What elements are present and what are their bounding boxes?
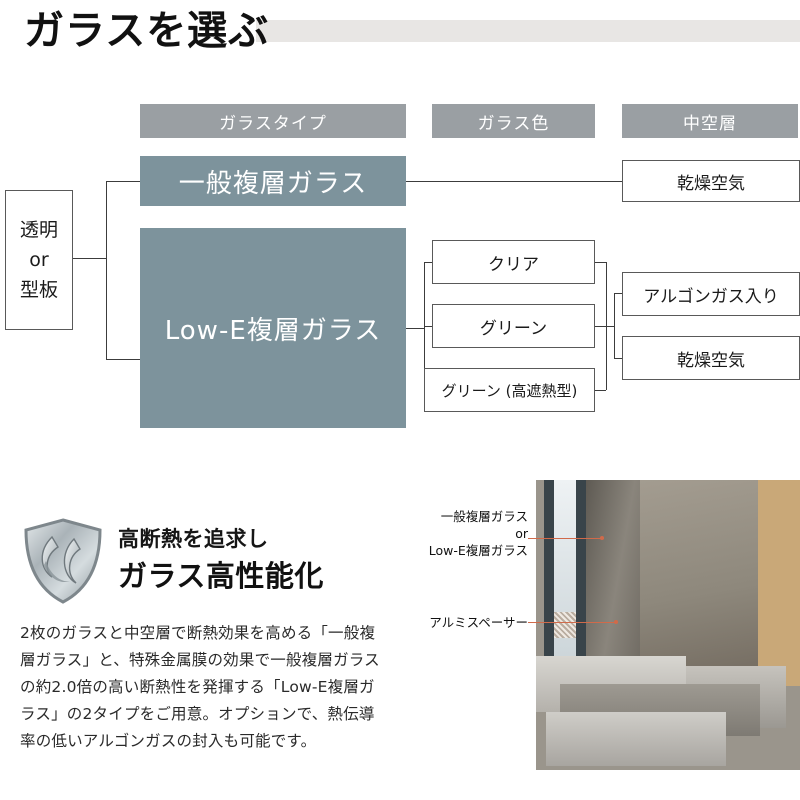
feature-body-text: 2枚のガラスと中空層で断熱効果を高める「一般複層ガラス」と、特殊金属膜の効果で一… [20, 620, 390, 755]
node-color-clear-label: クリア [488, 250, 539, 275]
callout-spacer-leader-line [528, 622, 618, 623]
connector-source-bracket [106, 181, 107, 359]
connector-lowe-stem [406, 328, 424, 329]
callout-spacer-leader-dot [614, 620, 618, 624]
connector-source-stem [73, 258, 106, 259]
connector-to-clear [424, 262, 432, 263]
feature-headline: ガラス高性能化 [118, 556, 398, 596]
photo-frame-top [640, 480, 758, 666]
page-header: ガラスを選ぶ [0, 0, 800, 72]
photo-aluminium-spacer [554, 612, 576, 638]
node-source-line1: 透明 [20, 215, 58, 245]
connector-to-lowe [106, 359, 140, 360]
connector-green-out [595, 326, 606, 327]
node-standard-glass-label: 一般複層ガラス [179, 163, 367, 200]
connector-standard-to-dryair [406, 181, 622, 182]
node-airlayer-dry-air-standard[interactable]: 乾燥空気 [622, 160, 800, 202]
node-color-green-shade[interactable]: グリーン (高遮熱型) [424, 368, 595, 412]
node-source-line3: 型板 [20, 275, 58, 305]
callout-spacer-label: アルミスペーサー [400, 614, 528, 631]
node-airlayer-argon[interactable]: アルゴンガス入り [622, 272, 800, 316]
photo-wood-trim [758, 480, 800, 686]
node-source-line2: or [29, 245, 48, 275]
node-color-green[interactable]: グリーン [432, 304, 595, 348]
node-lowe-glass-label: Low-E複層ガラス [165, 310, 382, 347]
connector-to-argon [614, 293, 622, 294]
glass-selection-diagram: ガラスタイプ ガラス色 中空層 透明 or 型板 一般複層ガラス Low-E複層… [0, 72, 800, 472]
window-frame-cross-section-photo [536, 480, 800, 770]
node-airlayer-dry-air-lowe-label: 乾燥空気 [677, 346, 745, 371]
node-airlayer-dry-air-lowe[interactable]: 乾燥空気 [622, 336, 800, 380]
window-cross-section-figure: 一般複層ガラス or Low-E複層ガラス アルミスペーサー [400, 472, 800, 800]
photo-sash [586, 480, 640, 680]
connector-to-dryair-bottom [614, 358, 622, 359]
connector-green-shade-out [595, 390, 606, 391]
feature-headings: 高断熱を追求し ガラス高性能化 [118, 524, 398, 596]
photo-aluminium-section-3 [546, 712, 726, 766]
column-header-air-layer: 中空層 [622, 104, 798, 138]
node-standard-glass[interactable]: 一般複層ガラス [140, 156, 406, 206]
node-airlayer-argon-label: アルゴンガス入り [643, 282, 779, 307]
column-header-glass-color: ガラス色 [432, 104, 595, 138]
title-rule [256, 20, 800, 42]
callout-glazing-label: 一般複層ガラス or Low-E複層ガラス [400, 508, 528, 559]
column-header-glass-type: ガラスタイプ [140, 104, 406, 138]
page-title: ガラスを選ぶ [24, 6, 269, 56]
connector-colors-merge-stem [606, 326, 614, 327]
photo-glass-pane-outer [544, 480, 554, 656]
node-color-clear[interactable]: クリア [432, 240, 595, 284]
node-airlayer-dry-air-standard-label: 乾燥空気 [677, 169, 745, 194]
node-color-green-label: グリーン [480, 314, 547, 339]
photo-glass-pane-inner [576, 480, 586, 656]
connector-to-standard [106, 181, 140, 182]
feature-kicker: 高断熱を追求し [118, 524, 398, 554]
node-source-glass-finish[interactable]: 透明 or 型板 [5, 190, 73, 330]
callout-glazing-leader-line [528, 538, 604, 539]
connector-airlayer-bracket [614, 293, 615, 358]
connector-clear-out [595, 262, 606, 263]
callout-glazing-leader-dot [600, 536, 604, 540]
node-color-green-shade-label: グリーン (高遮熱型) [442, 380, 578, 401]
shield-emblem-icon [22, 517, 104, 605]
connector-to-green [424, 326, 432, 327]
node-lowe-glass[interactable]: Low-E複層ガラス [140, 228, 406, 428]
